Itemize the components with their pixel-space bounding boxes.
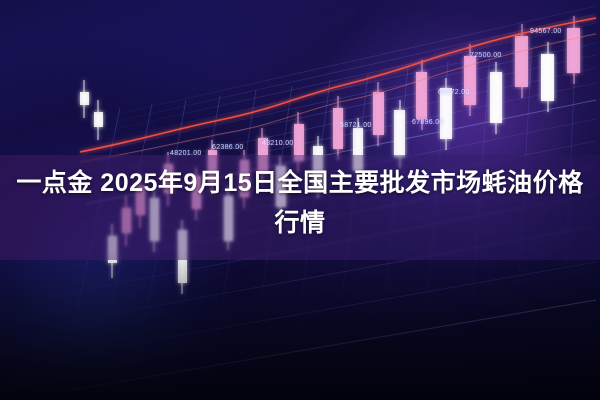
price-label: 64472.00 xyxy=(438,89,470,96)
price-label: 67896.00 xyxy=(412,119,444,126)
image-canvas: 94567.00 72500.00 64472.00 67896.00 5872… xyxy=(0,0,600,400)
bottom-vignette xyxy=(0,250,600,400)
price-label: 62386.00 xyxy=(212,144,244,151)
headline-text: 一点金 2025年9月15日全国主要批发市场蚝油价格行情 xyxy=(0,163,600,243)
price-label: 43210.00 xyxy=(262,140,294,147)
price-label: 94567.00 xyxy=(530,28,562,35)
price-label: 58721.00 xyxy=(340,122,372,129)
price-label: 72500.00 xyxy=(470,52,502,59)
